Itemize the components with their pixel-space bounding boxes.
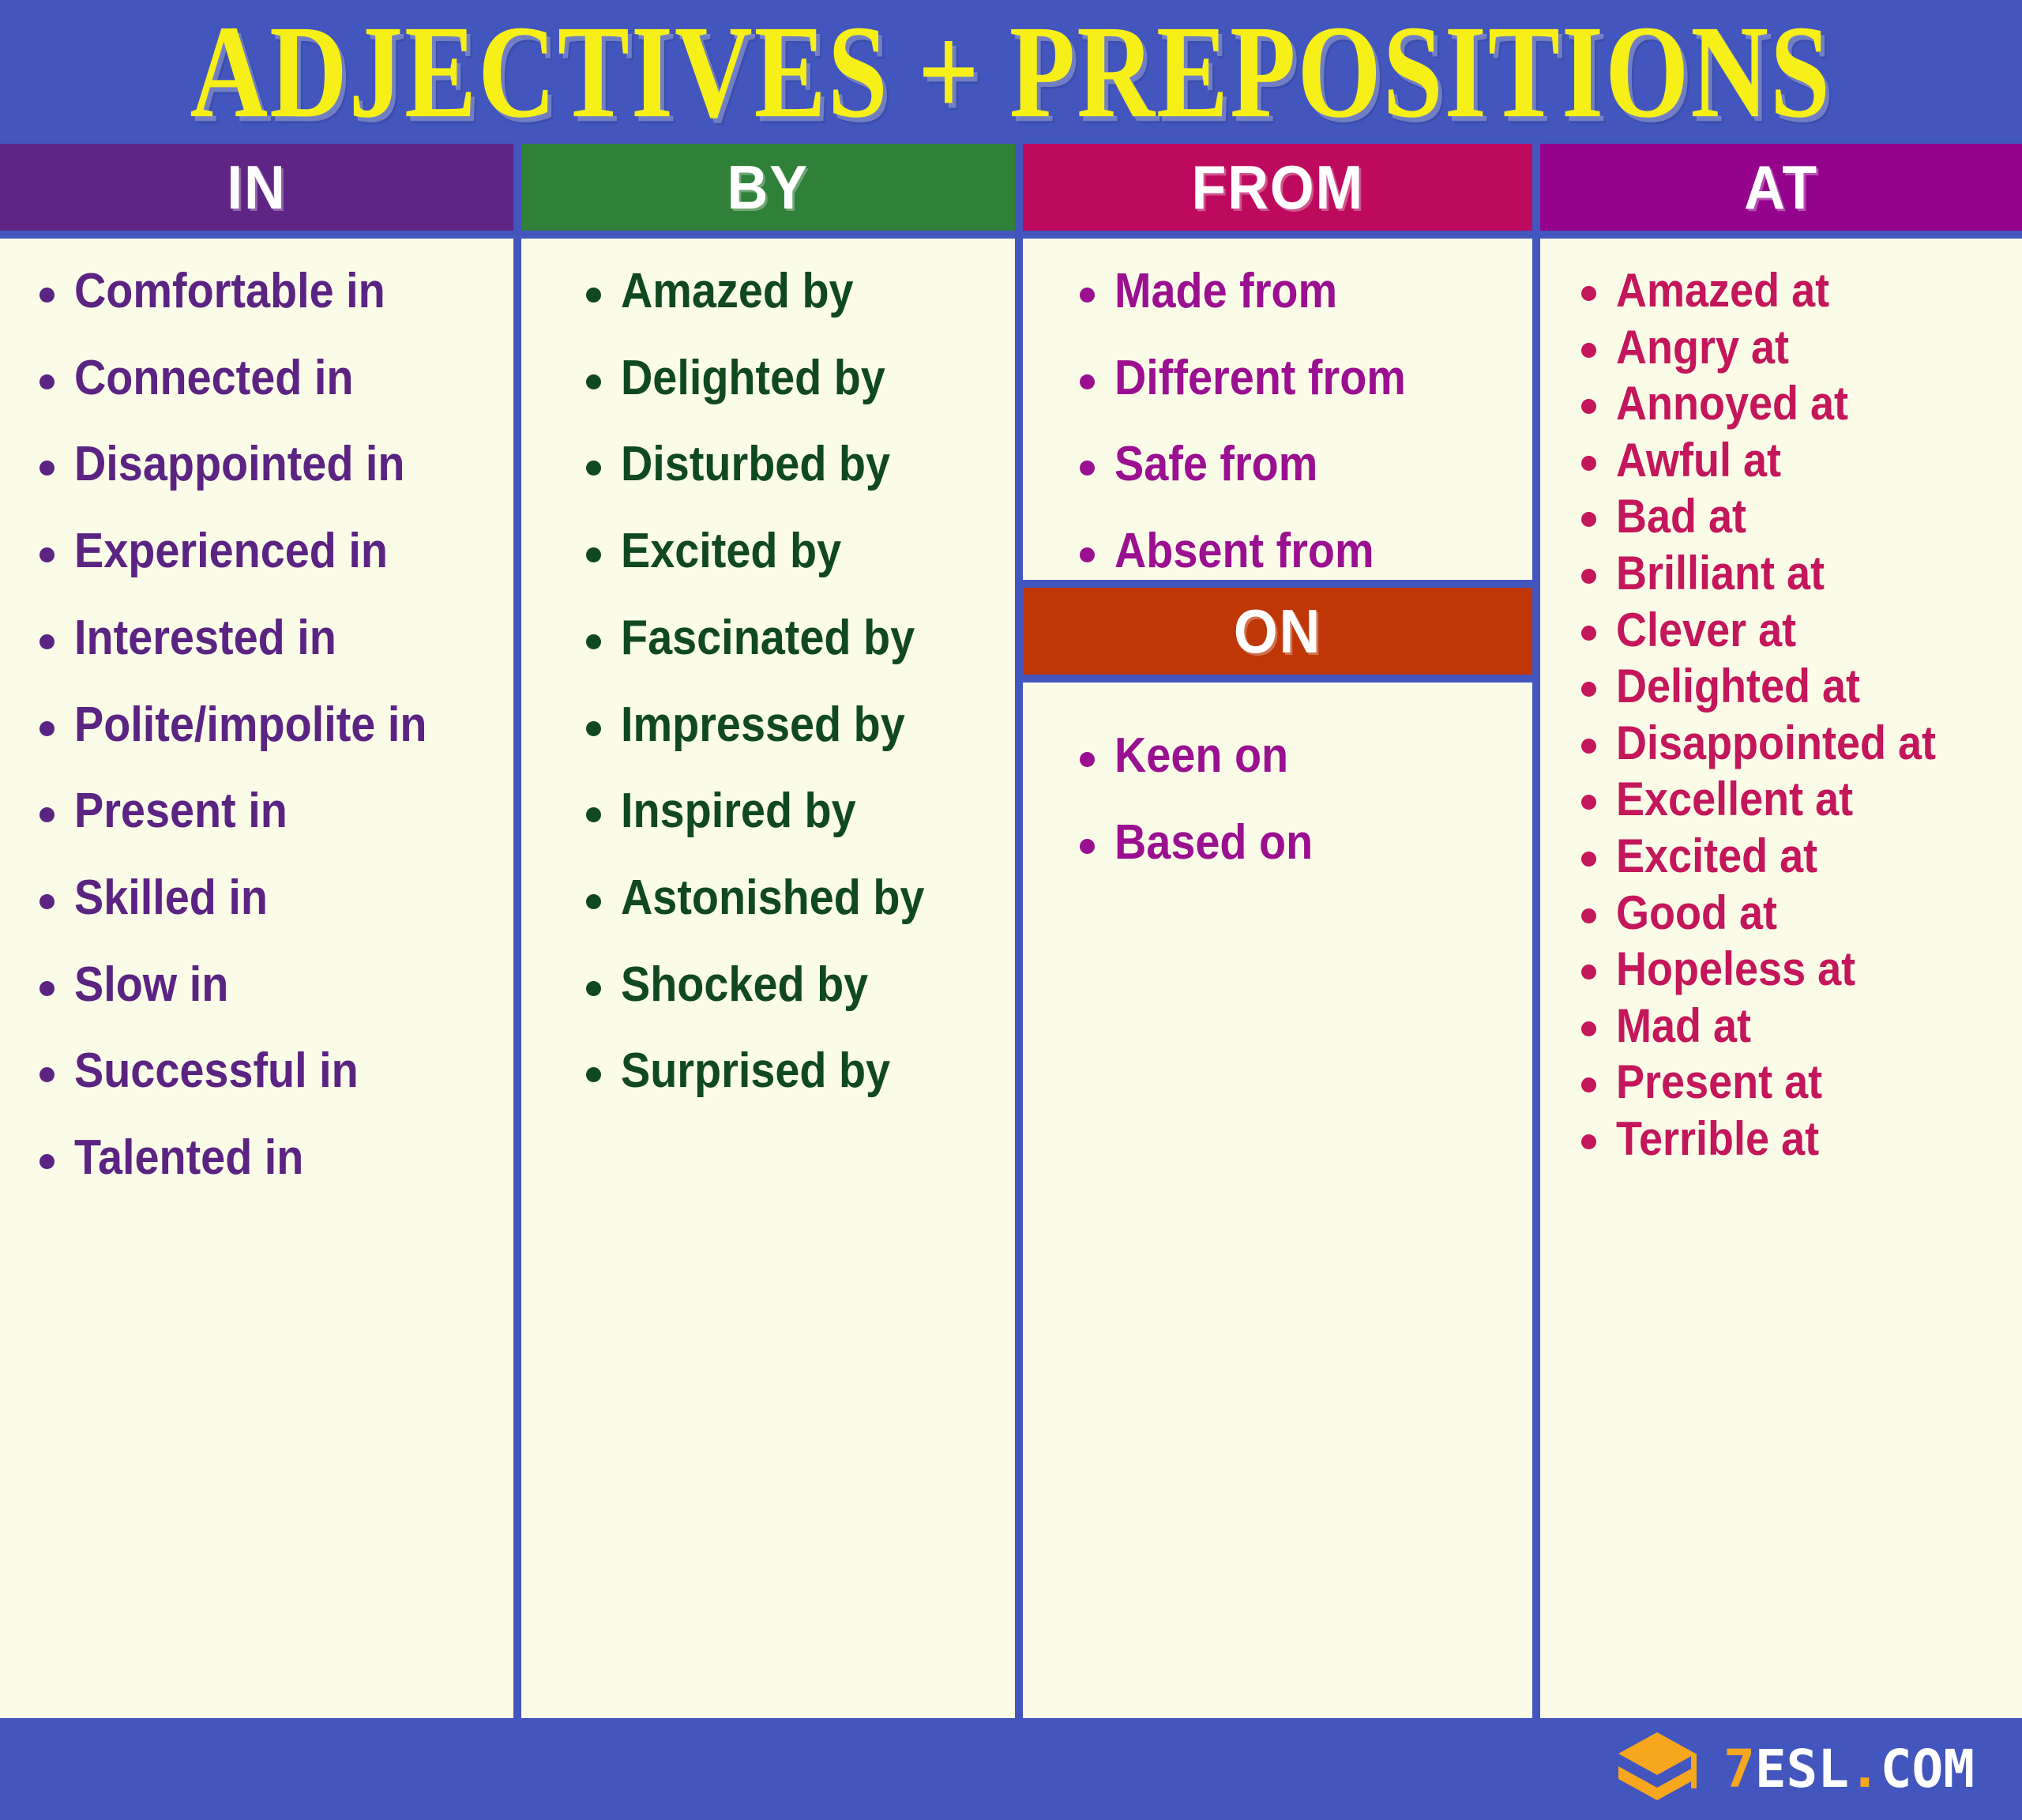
bullet-icon (586, 547, 601, 562)
column-from: FROM Made fromDifferent fromSafe fromAbs… (1023, 144, 1532, 1718)
list-item-label: Shocked by (621, 959, 868, 1011)
list-item-label: Polite/impolite in (74, 699, 427, 751)
list-item-label: Safe from (1114, 438, 1317, 491)
column-header-in: IN (0, 144, 513, 231)
list-item-label: Terrible at (1616, 1114, 1819, 1164)
bullet-icon (39, 288, 54, 303)
bullet-icon (1581, 512, 1596, 527)
list-item-label: Amazed by (621, 265, 854, 318)
list-item: Annoyed at (1581, 378, 2022, 429)
bullet-icon (1581, 456, 1596, 471)
bullet-icon (1581, 908, 1596, 923)
site-logo[interactable]: 7ESL.COM (1616, 1730, 1975, 1809)
list-item-label: Skilled in (74, 872, 268, 924)
list-item: Inspired by (586, 785, 1015, 837)
list-item-label: Experienced in (74, 525, 388, 577)
list-item-label: Clever at (1616, 605, 1796, 656)
bullet-icon (1080, 374, 1095, 389)
column-body-at: Amazed atAngry atAnnoyed atAwful atBad a… (1540, 239, 2022, 1718)
bullet-icon (1581, 343, 1596, 358)
list-item-label: Awful at (1616, 435, 1781, 486)
list-item: Different from (1080, 352, 1532, 404)
list-item: Awful at (1581, 435, 2022, 486)
list-item-label: Bad at (1616, 491, 1746, 542)
header-divider (1023, 231, 1532, 239)
site-logo-text: 7ESL.COM (1723, 1739, 1975, 1799)
column-body-by: Amazed byDelighted byDisturbed byExcited… (521, 239, 1015, 1718)
sub-header-divider-bottom (1023, 675, 1532, 682)
column-header-from: FROM (1023, 144, 1532, 231)
column-header-at-label: AT (1744, 152, 1818, 224)
bullet-icon (586, 1067, 601, 1082)
list-by: Amazed byDelighted byDisturbed byExcited… (521, 265, 1015, 1097)
bullet-icon (1080, 461, 1095, 476)
list-item: Brilliant at (1581, 548, 2022, 599)
sub-header-on-label: ON (1234, 596, 1321, 667)
title-bar: ADJECTIVES + PREPOSITIONS (0, 0, 2022, 144)
logo-dot: . (1849, 1739, 1881, 1799)
bullet-icon (1581, 1021, 1596, 1036)
bullet-icon (1581, 795, 1596, 810)
column-body-in: Comfortable inConnected inDisappointed i… (0, 239, 513, 1718)
list-item: Disappointed at (1581, 718, 2022, 769)
list-item: Present at (1581, 1057, 2022, 1107)
list-item-label: Hopeless at (1616, 944, 1855, 995)
list-item-label: Comfortable in (74, 265, 385, 318)
bullet-icon (1581, 286, 1596, 301)
list-item: Disturbed by (586, 438, 1015, 491)
footer-bar: 7ESL.COM (0, 1718, 2022, 1820)
bullet-icon (39, 461, 54, 476)
list-item: Present in (39, 785, 513, 837)
list-item-label: Keen on (1114, 730, 1288, 782)
column-header-at: AT (1540, 144, 2022, 231)
bullet-icon (1080, 547, 1095, 562)
list-item: Fascinated by (586, 612, 1015, 664)
column-body-on: Keen onBased on (1023, 682, 1532, 1718)
list-from: Made fromDifferent fromSafe fromAbsent f… (1023, 265, 1532, 580)
list-item: Mad at (1581, 1001, 2022, 1051)
list-item: Keen on (1080, 730, 1532, 782)
list-item: Skilled in (39, 872, 513, 924)
list-item-label: Excellent at (1616, 774, 1853, 825)
logo-esl: ESL (1755, 1739, 1849, 1799)
list-item: Clever at (1581, 605, 2022, 656)
list-item-label: Amazed at (1616, 265, 1829, 316)
list-item: Excellent at (1581, 774, 2022, 825)
graduation-cap-icon (1616, 1730, 1703, 1809)
column-body-from: Made fromDifferent fromSafe fromAbsent f… (1023, 239, 1532, 580)
list-item-label: Based on (1114, 817, 1313, 869)
list-item-label: Brilliant at (1616, 548, 1825, 599)
list-item: Interested in (39, 612, 513, 664)
list-item: Absent from (1080, 525, 1532, 577)
bullet-icon (586, 807, 601, 822)
page-title: ADJECTIVES + PREPOSITIONS (190, 6, 1832, 138)
list-item: Polite/impolite in (39, 699, 513, 751)
bullet-icon (1581, 399, 1596, 414)
list-item: Connected in (39, 352, 513, 404)
bullet-icon (1581, 739, 1596, 754)
list-item: Amazed at (1581, 265, 2022, 316)
list-item-label: Annoyed at (1616, 378, 1848, 429)
bullet-icon (586, 461, 601, 476)
list-item: Excited by (586, 525, 1015, 577)
list-item-label: Different from (1114, 352, 1406, 404)
list-item-label: Talented in (74, 1132, 303, 1184)
list-item: Comfortable in (39, 265, 513, 318)
list-item: Terrible at (1581, 1114, 2022, 1164)
bullet-icon (39, 374, 54, 389)
bullet-icon (39, 894, 54, 909)
list-item-label: Disappointed at (1616, 718, 1936, 769)
list-item: Slow in (39, 959, 513, 1011)
bullet-icon (1581, 626, 1596, 641)
list-on: Keen onBased on (1023, 730, 1532, 868)
list-item: Good at (1581, 888, 2022, 938)
bullet-icon (586, 894, 601, 909)
bullet-icon (1581, 965, 1596, 980)
list-item-label: Disturbed by (621, 438, 890, 491)
list-item-label: Disappointed in (74, 438, 405, 491)
column-divider (1015, 144, 1023, 1718)
column-divider (513, 144, 521, 1718)
bullet-icon (39, 807, 54, 822)
list-at: Amazed atAngry atAnnoyed atAwful atBad a… (1540, 265, 2022, 1164)
bullet-icon (586, 374, 601, 389)
list-item-label: Interested in (74, 612, 336, 664)
list-item-label: Excited at (1616, 831, 1817, 882)
header-divider (521, 231, 1015, 239)
list-item-label: Impressed by (621, 699, 905, 751)
list-item: Amazed by (586, 265, 1015, 318)
list-item-label: Present at (1616, 1057, 1822, 1107)
list-item: Angry at (1581, 322, 2022, 373)
bullet-icon (39, 1067, 54, 1082)
bullet-icon (39, 1154, 54, 1169)
list-item: Bad at (1581, 491, 2022, 542)
list-item: Hopeless at (1581, 944, 2022, 995)
sub-header-on: ON (1023, 588, 1532, 675)
list-item: Delighted by (586, 352, 1015, 404)
bullet-icon (39, 721, 54, 736)
bullet-icon (1581, 1134, 1596, 1149)
list-item: Impressed by (586, 699, 1015, 751)
list-item-label: Absent from (1114, 525, 1374, 577)
bullet-icon (586, 981, 601, 996)
list-item-label: Connected in (74, 352, 353, 404)
list-item: Excited at (1581, 831, 2022, 882)
list-item-label: Astonished by (621, 872, 924, 924)
column-divider (1532, 144, 1540, 1718)
prepositions-grid: IN Comfortable inConnected inDisappointe… (0, 144, 2022, 1718)
column-by: BY Amazed byDelighted byDisturbed byExci… (521, 144, 1015, 1718)
list-in: Comfortable inConnected inDisappointed i… (0, 265, 513, 1184)
list-item-label: Mad at (1616, 1001, 1751, 1051)
list-item-label: Slow in (74, 959, 228, 1011)
list-item-label: Fascinated by (621, 612, 915, 664)
bullet-icon (1080, 752, 1095, 767)
column-header-by-label: BY (727, 152, 809, 224)
column-header-by: BY (521, 144, 1015, 231)
column-at: AT Amazed atAngry atAnnoyed atAwful atBa… (1540, 144, 2022, 1718)
list-item-label: Delighted by (621, 352, 885, 404)
list-item: Based on (1080, 817, 1532, 869)
list-item-label: Made from (1114, 265, 1337, 318)
list-item-label: Inspired by (621, 785, 856, 837)
bullet-icon (586, 634, 601, 649)
list-item: Disappointed in (39, 438, 513, 491)
bullet-icon (586, 288, 601, 303)
list-item: Astonished by (586, 872, 1015, 924)
list-item: Surprised by (586, 1045, 1015, 1097)
list-item: Talented in (39, 1132, 513, 1184)
list-item-label: Angry at (1616, 322, 1789, 373)
list-item: Made from (1080, 265, 1532, 318)
list-item-label: Successful in (74, 1045, 359, 1097)
list-item-label: Delighted at (1616, 661, 1860, 712)
list-item: Safe from (1080, 438, 1532, 491)
column-header-in-label: IN (227, 152, 286, 224)
bullet-icon (1581, 569, 1596, 584)
bullet-icon (1581, 852, 1596, 867)
header-divider (1540, 231, 2022, 239)
list-item-label: Good at (1616, 888, 1777, 938)
header-divider (0, 231, 513, 239)
list-item: Delighted at (1581, 661, 2022, 712)
logo-seven: 7 (1723, 1739, 1755, 1799)
bullet-icon (1581, 1077, 1596, 1092)
column-header-from-label: FROM (1191, 152, 1364, 224)
logo-com: COM (1881, 1739, 1975, 1799)
list-item-label: Surprised by (621, 1045, 890, 1097)
bullet-icon (1080, 839, 1095, 854)
bullet-icon (1581, 682, 1596, 697)
bullet-icon (39, 981, 54, 996)
column-in: IN Comfortable inConnected inDisappointe… (0, 144, 513, 1718)
bullet-icon (39, 634, 54, 649)
bullet-icon (39, 547, 54, 562)
list-item-label: Present in (74, 785, 288, 837)
sub-header-divider-top (1023, 580, 1532, 588)
bullet-icon (1080, 288, 1095, 303)
bullet-icon (586, 721, 601, 736)
list-item: Shocked by (586, 959, 1015, 1011)
list-item-label: Excited by (621, 525, 841, 577)
list-item: Successful in (39, 1045, 513, 1097)
list-item: Experienced in (39, 525, 513, 577)
